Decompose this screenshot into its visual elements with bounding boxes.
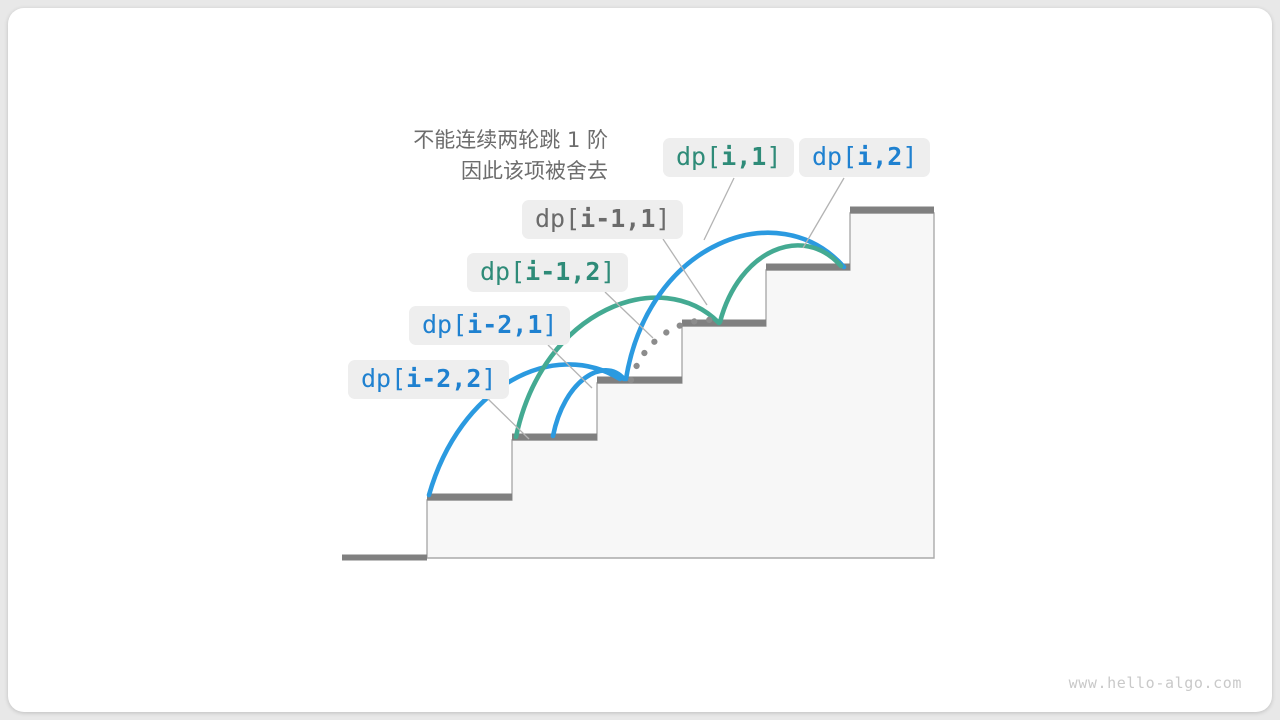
leader-dp-i-2 [803,178,844,248]
label-dp-i-2-2: dp[i-2,2] [348,360,509,399]
label-suffix: ] [481,364,496,393]
leader-dp-i-1-1 [663,239,707,305]
label-index: i-1,1 [580,204,655,233]
annotation-note-line2: 因此该项被舍去 [368,156,608,187]
leader-dp-i-1 [704,178,734,240]
label-suffix: ] [902,142,917,171]
label-dp-i-2: dp[i,2] [799,138,930,177]
label-prefix: dp[ [812,142,857,171]
staircase-diagram [8,8,1272,712]
label-dp-i-2-1: dp[i-2,1] [409,306,570,345]
label-suffix: ] [655,204,670,233]
label-dp-i-1: dp[i,1] [663,138,794,177]
label-dp-i-1-1: dp[i-1,1] [522,200,683,239]
label-index: i-2,2 [406,364,481,393]
label-prefix: dp[ [480,257,525,286]
label-dp-i-1-2: dp[i-1,2] [467,253,628,292]
label-prefix: dp[ [422,310,467,339]
annotation-note-line1: 不能连续两轮跳 1 阶 [368,125,608,156]
label-index: i-2,1 [467,310,542,339]
figure-canvas: 不能连续两轮跳 1 阶 因此该项被舍去 dp[i-2,2] dp[i-2,1] … [8,8,1272,712]
label-prefix: dp[ [535,204,580,233]
label-prefix: dp[ [361,364,406,393]
annotation-note: 不能连续两轮跳 1 阶 因此该项被舍去 [368,125,608,187]
label-prefix: dp[ [676,142,721,171]
label-index: i,1 [721,142,766,171]
label-suffix: ] [600,257,615,286]
label-index: i-1,2 [525,257,600,286]
label-index: i,2 [857,142,902,171]
label-suffix: ] [542,310,557,339]
watermark: www.hello-algo.com [1069,674,1242,692]
label-suffix: ] [766,142,781,171]
